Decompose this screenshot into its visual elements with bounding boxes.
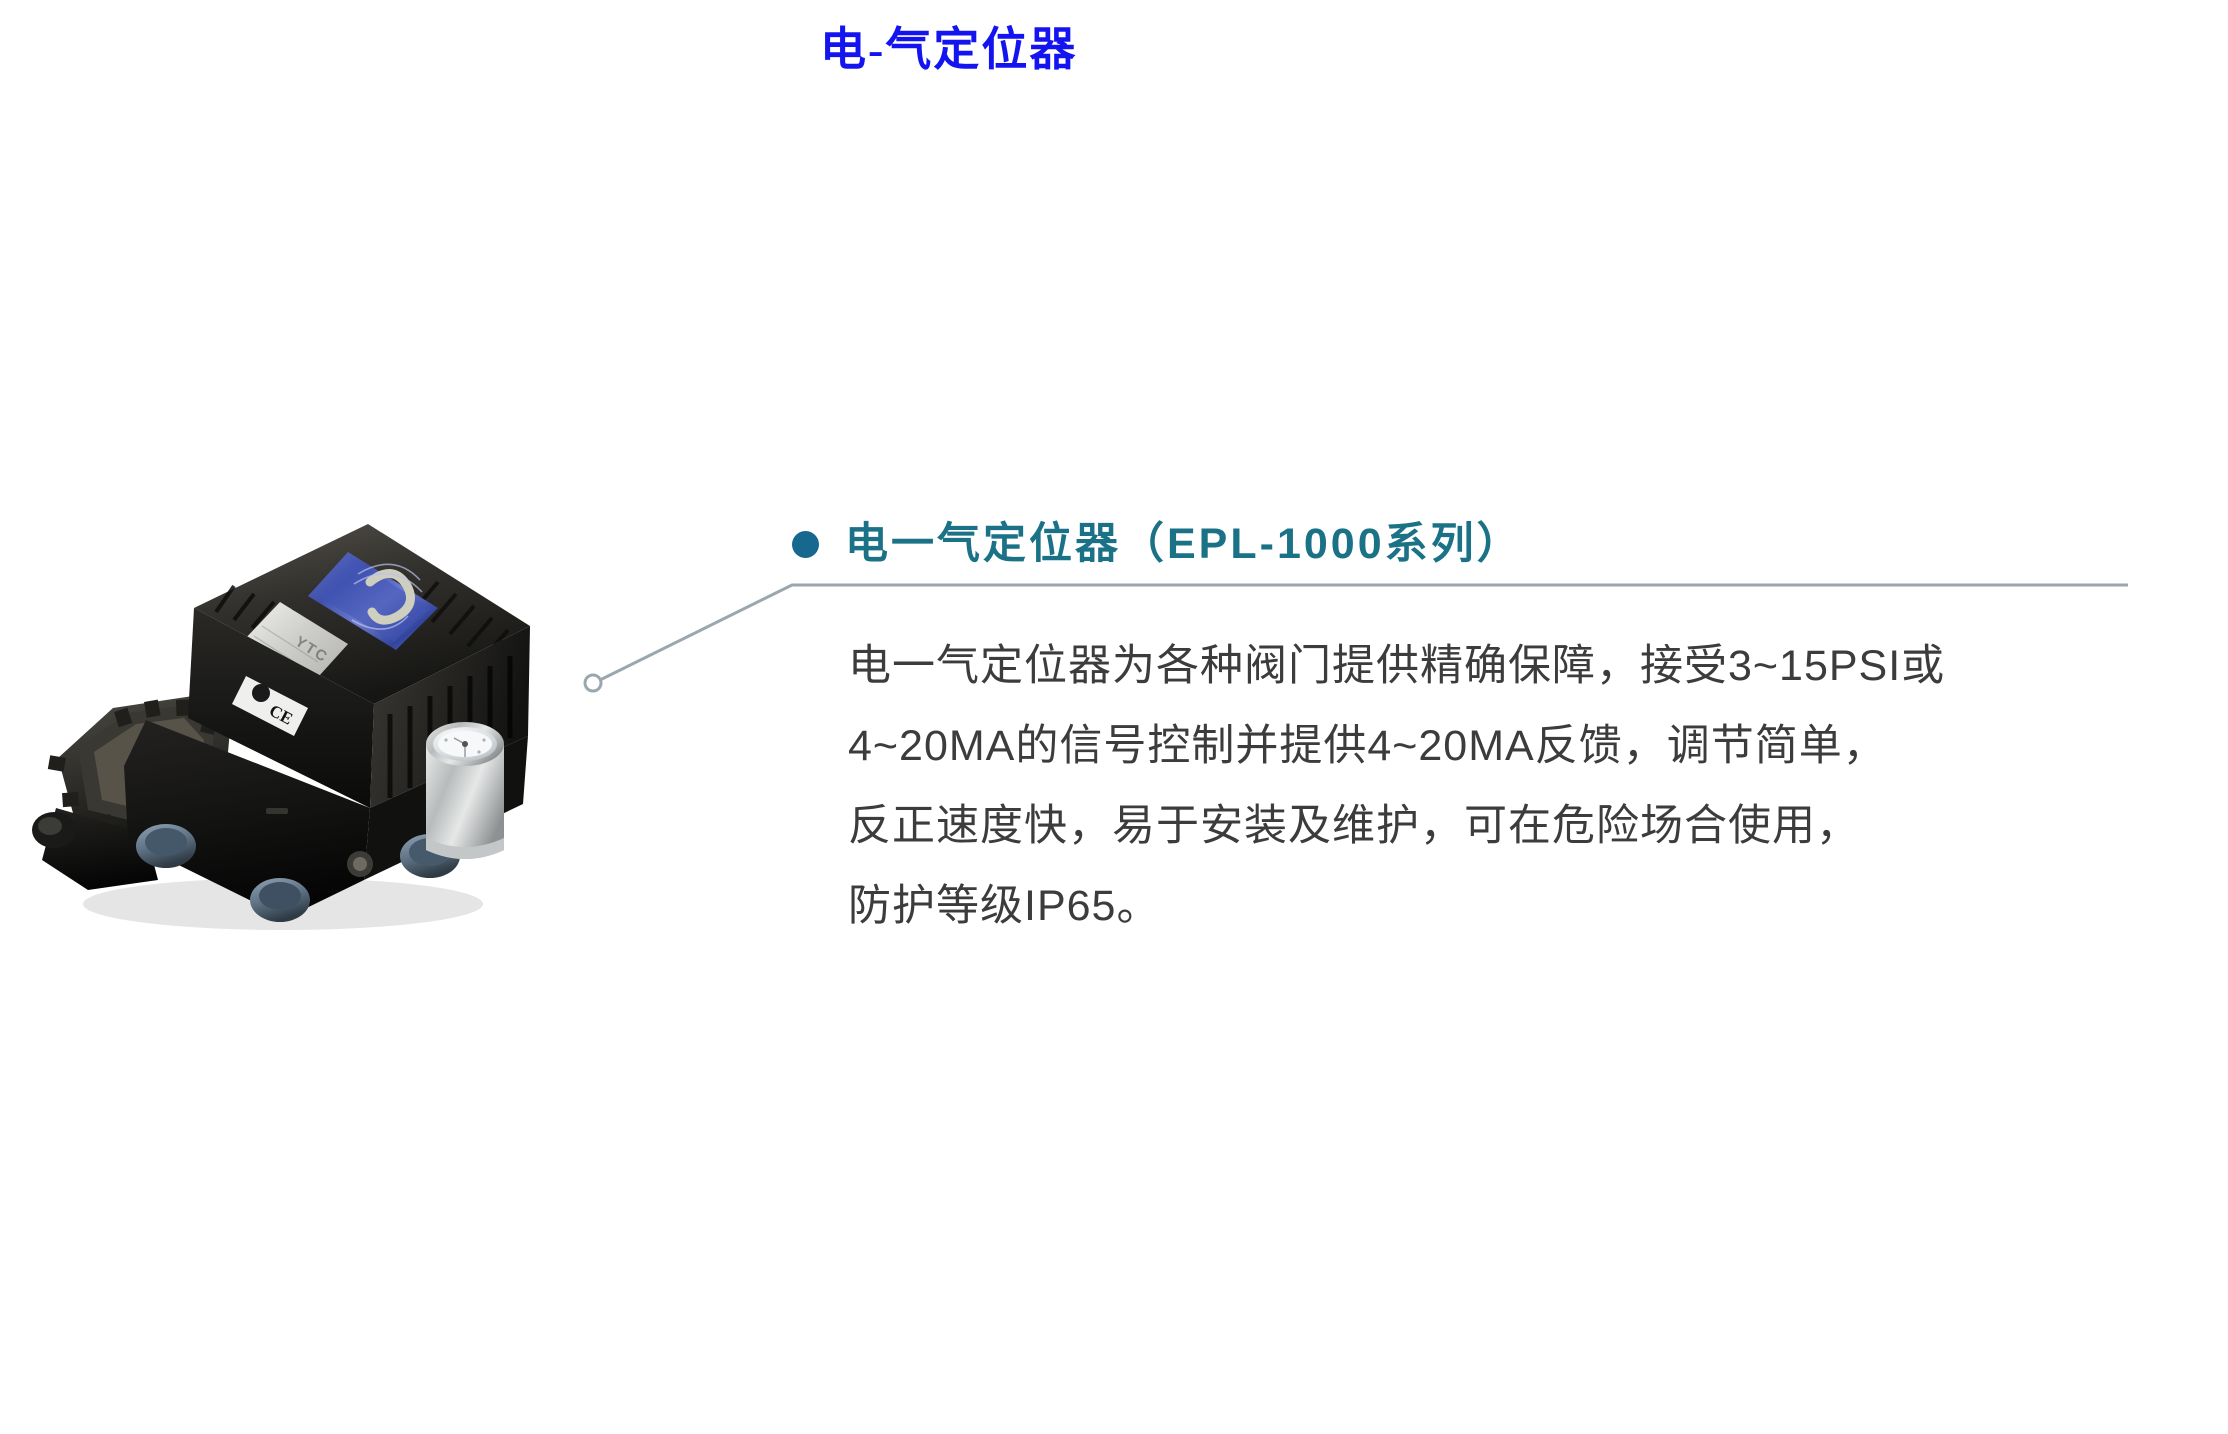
body-line: 防护等级IP65。 [848,866,2228,946]
body-line: 电一气定位器为各种阀门提供精确保障，接受3~15PSI或 [848,626,2228,706]
leader-endpoint-circle [585,675,601,691]
product-illustration: YTC [18,508,578,958]
pressure-gauge [426,722,504,859]
callout-body: 电一气定位器为各种阀门提供精确保障，接受3~15PSI或 4~20MA的信号控制… [848,626,2228,946]
bullet-dot-icon [792,531,819,558]
callout-heading-text: 电一气定位器（EPL-1000系列） [845,518,1523,570]
body-line: 4~20MA的信号控制并提供4~20MA反馈，调节简单， [848,706,2228,786]
product-image: YTC [18,508,578,958]
callout-heading: 电一气定位器（EPL-1000系列） [792,518,1523,570]
page-title: 电-气定位器 [820,22,1077,78]
body-line: 反正速度快，易于安装及维护，可在危险场合使用， [848,786,2228,866]
